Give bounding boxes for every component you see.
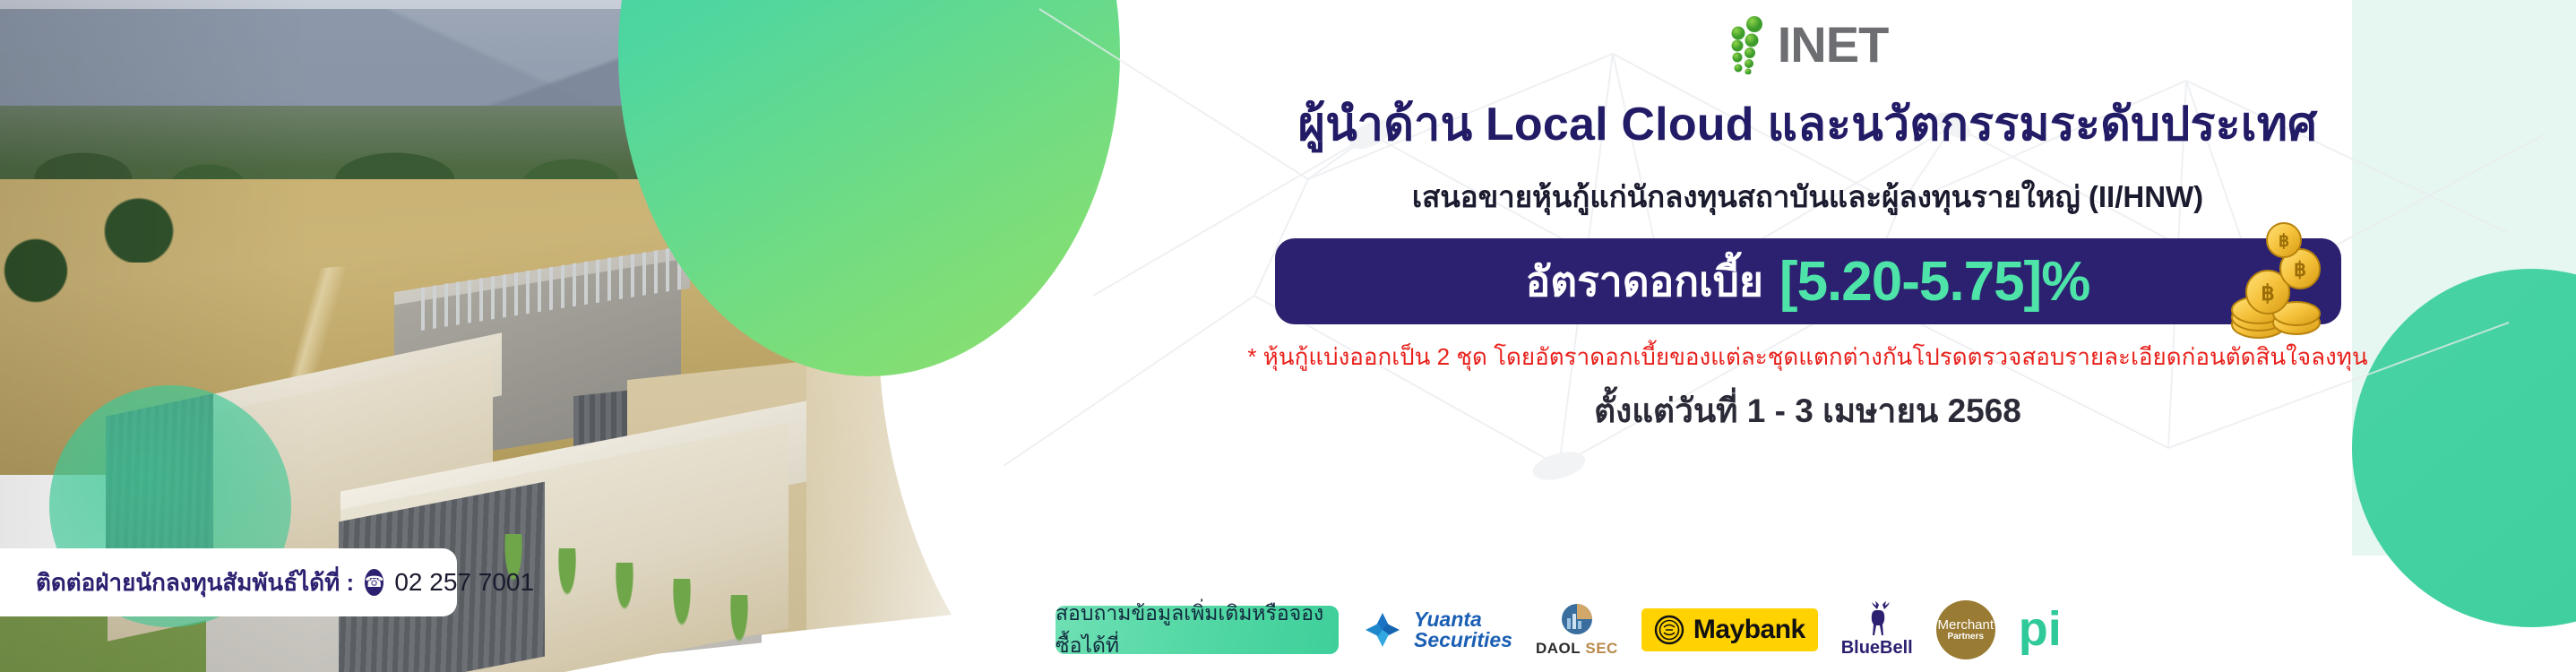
bluebell-wordmark: BlueBell bbox=[1841, 638, 1913, 659]
yuanta-line1: Yuanta bbox=[1414, 609, 1512, 630]
investor-relations-contact-box[interactable]: ติดต่อฝ่ายนักลงทุนสัมพันธ์ได้ที่ : ☎ 02 … bbox=[0, 548, 457, 616]
yuanta-line2: Securities bbox=[1414, 630, 1512, 650]
interest-rate-box: อัตราดอกเบี้ย [5.20-5.75]% bbox=[1275, 238, 2341, 324]
partner-logo-pi[interactable]: pi bbox=[2019, 610, 2062, 649]
maybank-wordmark: Maybank bbox=[1693, 615, 1805, 645]
phone-icon: ☎ bbox=[365, 569, 383, 596]
contact-label: ติดต่อฝ่ายนักลงทุนสัมพันธ์ได้ที่ : bbox=[36, 564, 354, 601]
svg-text:฿: ฿ bbox=[2261, 281, 2274, 306]
partner-logo-daolsec[interactable]: DAOL SEC bbox=[1536, 602, 1618, 658]
gold-coins-icon: ฿ ฿ ฿ bbox=[2218, 217, 2325, 342]
offering-date: ตั้งแต่วันที่ 1 - 3 เมษายน 2568 bbox=[1594, 384, 2021, 437]
promo-content: INET ผู้นำด้าน Local Cloud และนวัตกรรมระ… bbox=[1039, 0, 2576, 672]
merchant-line1: Merchant bbox=[1937, 618, 1994, 633]
footnote-disclaimer: * หุ้นกู้แบ่งออกเป็น 2 ชุด โดยอัตราดอกเบ… bbox=[1247, 339, 2367, 375]
inet-wordmark: INET bbox=[1778, 20, 1889, 70]
cta-button[interactable]: สอบถามข้อมูลเพิ่มเติมหรือจองซื้อได้ที่ bbox=[1055, 606, 1339, 654]
bluebell-deer-icon bbox=[1859, 601, 1895, 637]
partners-row: สอบถามข้อมูลเพิ่มเติมหรือจองซื้อได้ที่ Y… bbox=[1039, 600, 2576, 659]
subheadline: เสนอขายหุ้นกู้แก่นักลงทุนสถาบันและผู้ลงท… bbox=[1412, 173, 2203, 220]
partner-logo-bluebell[interactable]: BlueBell bbox=[1841, 601, 1913, 659]
svg-text:฿: ฿ bbox=[2294, 258, 2306, 280]
merchant-line2: Partners bbox=[1947, 633, 1984, 642]
partner-logo-maybank[interactable]: Maybank bbox=[1641, 608, 1818, 651]
inet-bond-promo-banner: INET ผู้นำด้าน Local Cloud และนวัตกรรมระ… bbox=[0, 0, 2576, 672]
interest-rate-label: อัตราดอกเบี้ย bbox=[1526, 249, 1763, 314]
inet-logo: INET bbox=[1727, 13, 1889, 77]
headline: ผู้นำด้าน Local Cloud และนวัตกรรมระดับปร… bbox=[1298, 86, 2318, 160]
yuanta-star-icon bbox=[1362, 609, 1403, 650]
daol-line2: SEC bbox=[1585, 640, 1617, 657]
partner-logo-merchant-partners[interactable]: Merchant Partners bbox=[1936, 600, 1995, 659]
inet-dots-icon bbox=[1727, 15, 1776, 74]
partner-logo-yuanta[interactable]: Yuanta Securities bbox=[1362, 609, 1512, 650]
daol-pie-icon bbox=[1556, 602, 1598, 638]
pi-wordmark: pi bbox=[2019, 610, 2062, 649]
interest-rate-value: [5.20-5.75]% bbox=[1779, 250, 2089, 314]
svg-text:฿: ฿ bbox=[2278, 232, 2288, 251]
contact-phone-number[interactable]: 02 257 7001 bbox=[394, 568, 534, 597]
daol-line1: DAOL bbox=[1536, 640, 1581, 657]
maybank-tiger-icon bbox=[1654, 615, 1684, 645]
